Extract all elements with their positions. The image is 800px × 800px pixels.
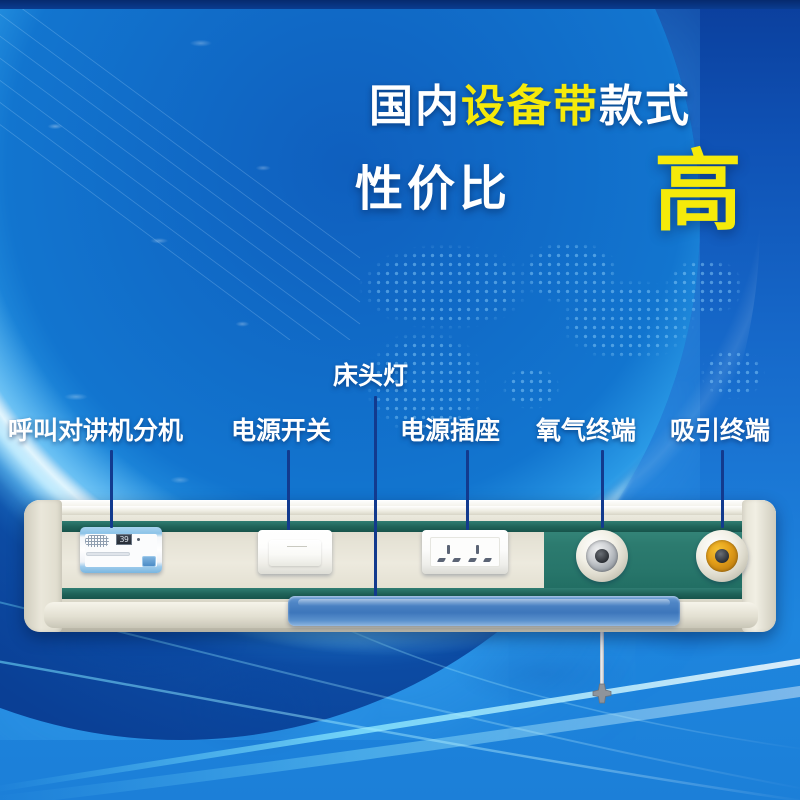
nurse-call-intercom-unit[interactable]: 39 [80, 527, 162, 573]
callout-label-nurse-call: 呼叫对讲机分机 [8, 418, 183, 443]
suction-terminal-unit[interactable] [696, 530, 748, 582]
socket-pin-slot [476, 545, 479, 554]
power-socket-unit[interactable] [422, 530, 508, 574]
nurse-call-display: 39 [116, 534, 132, 545]
oxygen-terminal-unit[interactable] [576, 530, 628, 582]
speaker-grill-icon [85, 535, 109, 547]
leader-line-nurse-call [110, 450, 113, 528]
callout-label-power-socket: 电源插座 [400, 418, 500, 443]
top-band [0, 0, 800, 9]
socket-pin-hole [468, 558, 477, 562]
emphasis-character: 高 [654, 148, 742, 236]
subheadline: 性价比 [355, 165, 511, 213]
nurse-call-slot [86, 552, 130, 556]
callout-label-oxygen-terminal: 氧气终端 [536, 418, 636, 443]
socket-pin-hole [483, 558, 492, 562]
headline-part-3: 款式 [599, 81, 691, 132]
leader-line-suction-terminal [721, 450, 724, 528]
oxygen-terminal-port [595, 549, 609, 563]
nurse-call-button[interactable] [142, 556, 156, 567]
callout-label-suction-terminal: 吸引终端 [670, 418, 770, 443]
socket-pin-hole [452, 558, 461, 562]
light-bar-gloss [298, 599, 670, 606]
leader-line-bed-lamp [374, 396, 377, 596]
rocker-marking [287, 546, 307, 547]
headline: 国内设备带款式 [280, 85, 780, 129]
socket-faceplate [430, 537, 500, 567]
status-led-icon [137, 538, 140, 541]
leader-line-power-socket [466, 450, 469, 530]
socket-pin-slot [447, 545, 450, 554]
suction-terminal-port [715, 549, 729, 563]
promo-banner: 国内设备带款式 性价比 高 呼叫对讲机分机 电源开关 床头灯 电源插座 氧气终端… [0, 0, 800, 800]
callout-label-bed-lamp: 床头灯 [333, 363, 408, 388]
hose-cross-fitting-icon [591, 682, 613, 704]
power-switch-unit[interactable] [258, 530, 332, 574]
socket-pin-hole [437, 558, 446, 562]
power-switch-rocker[interactable] [269, 540, 321, 566]
callout-label-power-switch: 电源开关 [231, 418, 331, 443]
leader-line-oxygen-terminal [601, 450, 604, 528]
headline-part-1: 国内 [369, 81, 461, 132]
panel-top-rail [54, 506, 748, 515]
leader-line-power-switch [287, 450, 290, 530]
bed-lamp-light-bar[interactable] [288, 596, 680, 626]
headline-highlight: 设备带 [461, 81, 599, 132]
